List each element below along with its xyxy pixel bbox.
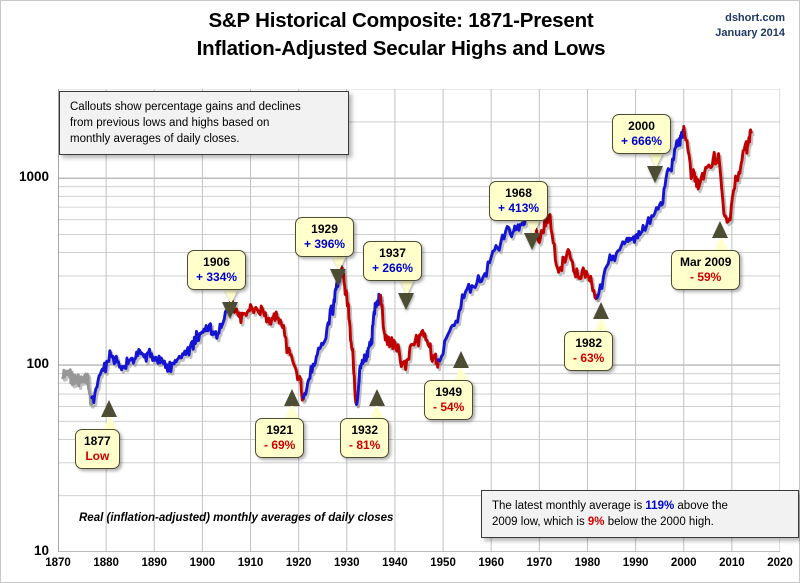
callout-year: 1949 — [433, 385, 464, 400]
x-axis-label: 2020 — [758, 557, 800, 569]
x-axis-label: 2000 — [662, 557, 706, 569]
attribution-date: January 2014 — [715, 26, 785, 41]
summary-text-2: above the — [674, 500, 728, 512]
x-axis-label: 1980 — [565, 557, 609, 569]
series-line — [342, 268, 356, 404]
callout-pointer-c1982 — [594, 317, 608, 332]
page-title-line2: Inflation-Adjusted Secular Highs and Low… — [1, 35, 800, 63]
data-layer — [58, 89, 780, 552]
summary-text-3: 2009 low, which is — [492, 516, 588, 528]
footer-note: Real (inflation-adjusted) monthly averag… — [79, 512, 393, 524]
summary-box: The latest monthly average is 119% above… — [481, 490, 799, 538]
callout-pointer-c1906 — [224, 289, 238, 304]
x-axis-label: 1990 — [614, 557, 658, 569]
note-line-3: monthly averages of daily closes. — [70, 131, 338, 147]
callout-c1932: 1932- 81% — [340, 418, 389, 458]
attribution-source: dshort.com — [715, 11, 785, 26]
callout-c2009: Mar 2009- 59% — [671, 250, 740, 290]
summary-value-loss: 9% — [588, 516, 605, 528]
callout-c1921: 1921- 69% — [255, 418, 304, 458]
callout-value: - 54% — [433, 400, 464, 415]
callout-c1937: 1937+ 266% — [363, 241, 422, 281]
callout-value: + 266% — [372, 261, 413, 276]
callout-c1949: 1949- 54% — [424, 380, 473, 420]
callout-pointer-c1937 — [400, 280, 414, 295]
callout-pointer-c1877 — [103, 415, 117, 430]
callout-year: 1929 — [304, 222, 345, 237]
y-axis-label: 1000 — [3, 169, 49, 184]
callout-value: + 334% — [196, 270, 237, 285]
x-axis-label: 1880 — [84, 557, 128, 569]
x-axis-label: 1890 — [132, 557, 176, 569]
callout-year: Mar 2009 — [680, 255, 731, 270]
callout-c2000: 2000+ 666% — [612, 114, 671, 154]
chart-canvas: S&P Historical Composite: 1871-Present I… — [0, 0, 800, 583]
callout-c1929: 1929+ 396% — [295, 217, 354, 257]
callout-year: 2000 — [621, 119, 662, 134]
note-line-1: Callouts show percentage gains and decli… — [70, 99, 338, 115]
callout-c1877: 1877Low — [75, 429, 120, 469]
x-axis-label: 2010 — [710, 557, 754, 569]
page-title-line1: S&P Historical Composite: 1871-Present — [1, 7, 800, 35]
callout-year: 1982 — [573, 336, 604, 351]
summary-text-4: below the 2000 high. — [605, 516, 714, 528]
callout-pointer-c1929 — [332, 256, 346, 271]
callout-year: 1921 — [264, 423, 295, 438]
summary-line-2: 2009 low, which is 9% below the 2000 hig… — [492, 514, 788, 530]
summary-value-gain: 119% — [645, 500, 674, 512]
callout-pointer-c1968 — [526, 220, 540, 235]
callout-pointer-c2000 — [649, 153, 663, 168]
series-line — [530, 213, 597, 299]
attribution: dshort.com January 2014 — [715, 11, 785, 41]
callout-explanation-box: Callouts show percentage gains and decli… — [59, 91, 349, 155]
callout-year: 1937 — [372, 246, 413, 261]
summary-text-1: The latest monthly average is — [492, 500, 645, 512]
callout-c1906: 1906+ 334% — [187, 250, 246, 290]
x-axis-label: 1960 — [469, 557, 513, 569]
callout-year: 1877 — [84, 434, 111, 449]
plot-area — [58, 89, 780, 552]
callout-c1968: 1968+ 413% — [489, 181, 548, 221]
callout-value: - 81% — [349, 438, 380, 453]
callout-year: 1906 — [196, 255, 237, 270]
x-axis-label: 1870 — [36, 557, 80, 569]
x-axis-label: 1900 — [180, 557, 224, 569]
callout-pointer-c1932 — [370, 404, 384, 419]
title-block: S&P Historical Composite: 1871-Present I… — [1, 7, 800, 63]
callout-value: + 666% — [621, 134, 662, 149]
callout-value: - 59% — [680, 270, 731, 285]
note-line-2: from previous lows and highs based on — [70, 115, 338, 131]
y-axis-label: 100 — [3, 356, 49, 371]
callout-value: + 413% — [498, 201, 539, 216]
callout-year: 1968 — [498, 186, 539, 201]
callout-pointer-c1921 — [285, 404, 299, 419]
callout-pointer-c2009 — [714, 236, 728, 251]
x-axis-label: 1930 — [325, 557, 369, 569]
y-axis-label: 10 — [3, 543, 49, 558]
x-axis-label: 1950 — [421, 557, 465, 569]
callout-c1982: 1982- 63% — [564, 331, 613, 371]
callout-value: - 63% — [573, 351, 604, 366]
x-axis-label: 1940 — [373, 557, 417, 569]
callout-value: + 396% — [304, 237, 345, 252]
callout-year: 1932 — [349, 423, 380, 438]
x-axis-label: 1970 — [517, 557, 561, 569]
callout-value: Low — [84, 449, 111, 464]
callout-pointer-c1949 — [454, 366, 468, 381]
summary-line-1: The latest monthly average is 119% above… — [492, 498, 788, 514]
x-axis-label: 1920 — [277, 557, 321, 569]
x-axis-label: 1910 — [229, 557, 273, 569]
callout-value: - 69% — [264, 438, 295, 453]
